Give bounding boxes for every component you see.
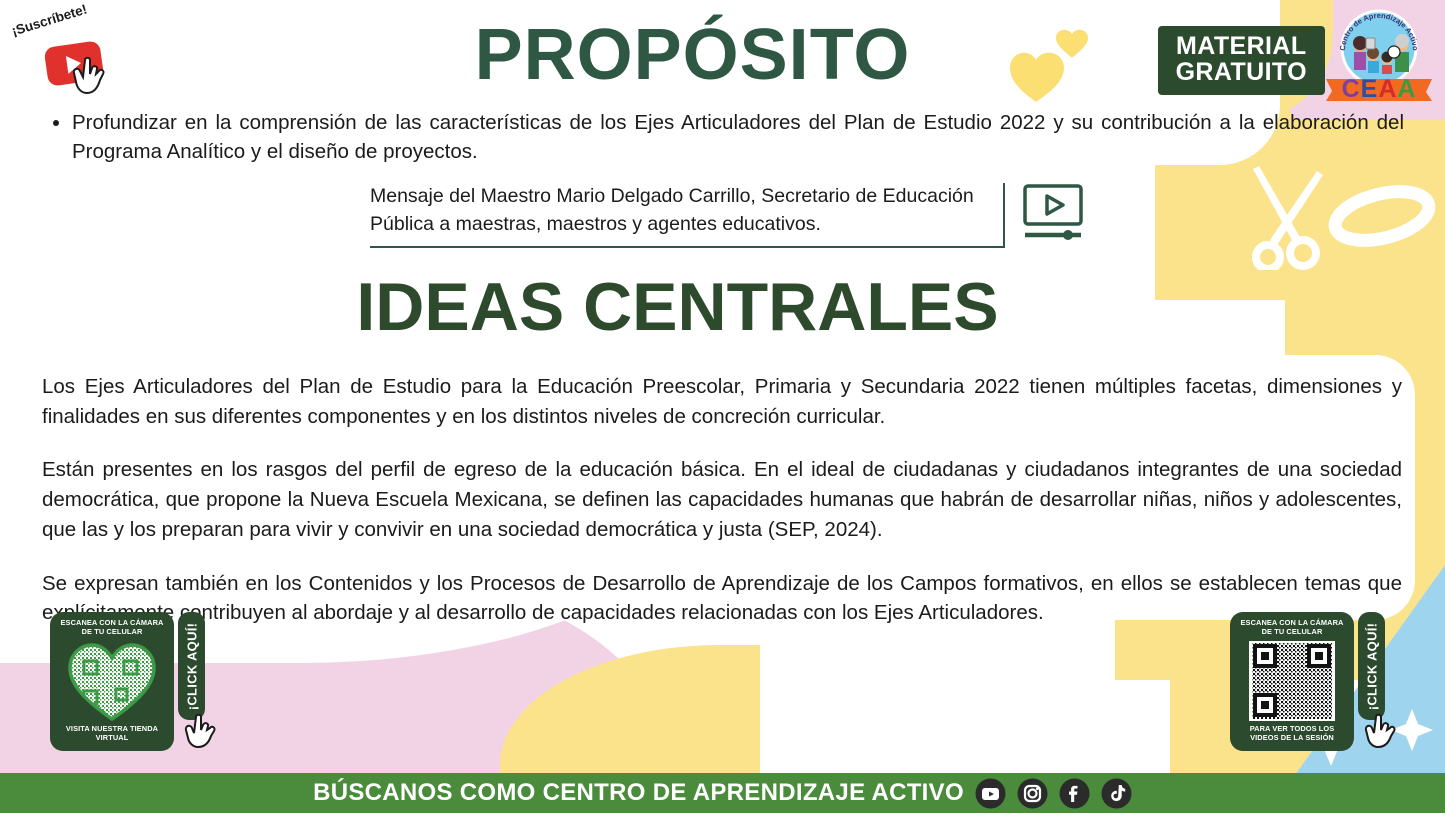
video-divider bbox=[1003, 183, 1006, 248]
click-here-tab[interactable]: ¡CLICK AQUÍ! bbox=[178, 612, 205, 720]
click-here-tab[interactable]: ¡CLICK AQUÍ! bbox=[1358, 612, 1385, 720]
qr-block-store[interactable]: ESCANEA CON LA CÁMARA DE TU CELULAR bbox=[50, 612, 205, 751]
paragraph: Están presentes en los rasgos del perfil… bbox=[42, 455, 1402, 544]
hand-cursor-icon bbox=[1364, 712, 1400, 752]
click-here-label: ¡CLICK AQUÍ! bbox=[1364, 622, 1379, 710]
qr-caption-top: ESCANEA CON LA CÁMARA DE TU CELULAR bbox=[1236, 619, 1348, 636]
tiktok-icon[interactable] bbox=[1101, 778, 1132, 809]
purpose-bullets: Profundizar en la comprensión de las car… bbox=[48, 108, 1404, 166]
svg-text:CEAA: CEAA bbox=[1342, 75, 1417, 102]
video-message-row[interactable]: Mensaje del Maestro Mario Delgado Carril… bbox=[370, 183, 1085, 248]
paragraph: Se expresan también en los Contenidos y … bbox=[42, 569, 1402, 628]
footer-text: BÚSCANOS COMO CENTRO DE APRENDIZAJE ACTI… bbox=[313, 779, 964, 807]
qr-code-heart-icon[interactable] bbox=[66, 641, 158, 721]
qr-code-icon[interactable] bbox=[1249, 641, 1335, 721]
scissors-icon bbox=[1243, 165, 1333, 270]
section-title: IDEAS CENTRALES bbox=[0, 268, 1445, 346]
facebook-icon[interactable] bbox=[1059, 778, 1090, 809]
qr-caption-bottom: PARA VER TODOS LOS VIDEOS DE LA SESIÓN bbox=[1236, 725, 1348, 742]
hand-cursor-icon bbox=[72, 54, 112, 98]
badge-line-1: MATERIAL bbox=[1176, 33, 1307, 59]
qr-caption-bottom: VISITA NUESTRA TIENDA VIRTUAL bbox=[56, 725, 168, 742]
material-gratuito-badge: MATERIAL GRATUITO bbox=[1158, 26, 1325, 95]
body-content: Los Ejes Articuladores del Plan de Estud… bbox=[42, 372, 1402, 628]
click-here-label: ¡CLICK AQUÍ! bbox=[184, 622, 199, 710]
badge-line-2: GRATUITO bbox=[1176, 59, 1307, 85]
footer-bar: BÚSCANOS COMO CENTRO DE APRENDIZAJE ACTI… bbox=[0, 773, 1445, 813]
bullet-item: Profundizar en la comprensión de las car… bbox=[72, 108, 1404, 166]
video-message-text: Mensaje del Maestro Mario Delgado Carril… bbox=[370, 183, 1003, 248]
youtube-icon[interactable] bbox=[975, 778, 1006, 809]
video-player-icon[interactable] bbox=[1021, 183, 1085, 245]
ceaa-logo: Centro de Aprendizaje Activo CEAA bbox=[1318, 2, 1440, 102]
ring-decoration-icon bbox=[1327, 185, 1437, 247]
instagram-icon[interactable] bbox=[1017, 778, 1048, 809]
hearts-decoration-icon bbox=[1010, 22, 1102, 106]
paragraph: Los Ejes Articuladores del Plan de Estud… bbox=[42, 372, 1402, 431]
slide-canvas: ¡Suscríbete! MATERIAL GRATUITO Centro de… bbox=[0, 0, 1445, 813]
qr-card: ESCANEA CON LA CÁMARA DE TU CELULAR bbox=[50, 612, 174, 751]
subscribe-badge[interactable]: ¡Suscríbete! bbox=[10, 12, 120, 92]
qr-block-videos[interactable]: ESCANEA CON LA CÁMARA DE TU CELULAR bbox=[1230, 612, 1385, 751]
qr-caption-top: ESCANEA CON LA CÁMARA DE TU CELULAR bbox=[56, 619, 168, 636]
hand-cursor-icon bbox=[184, 712, 220, 752]
qr-card: ESCANEA CON LA CÁMARA DE TU CELULAR bbox=[1230, 612, 1354, 751]
